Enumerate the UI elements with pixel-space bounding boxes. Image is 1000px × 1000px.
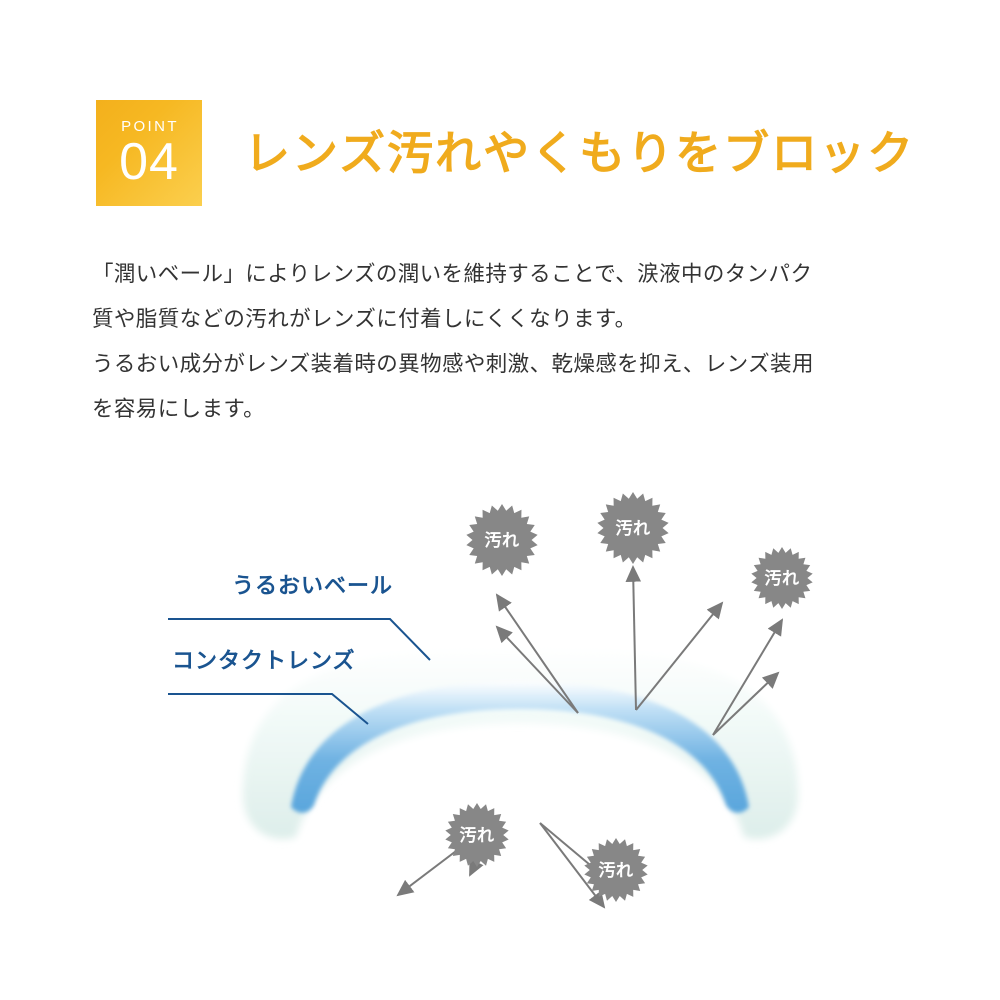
point-badge: POINT 04 (96, 100, 202, 206)
lens-diagram: うるおいベール コンタクトレンズ (0, 455, 1000, 935)
callout-label-contact-lens: コンタクトレンズ (172, 648, 356, 673)
infographic-page: POINT 04 レンズ汚れやくもりをブロック 「潤いベール」によりレンズの潤い… (0, 0, 1000, 1000)
dirt-burst-label: 汚れ (616, 518, 651, 538)
page-title: レンズ汚れやくもりをブロック (244, 130, 915, 176)
body-line-3: うるおい成分がレンズ装着時の異物感や刺激、乾燥感を抑え、レンズ装用 (92, 342, 912, 387)
dirt-burst: 汚れ (445, 803, 508, 867)
dirt-burst: 汚れ (466, 504, 537, 576)
body-line-1: 「潤いベール」によりレンズの潤いを維持することで、涙液中のタンパク (92, 252, 912, 297)
point-badge-number: 04 (119, 136, 179, 188)
lens-diagram-svg: うるおいベール コンタクトレンズ (0, 455, 1000, 935)
callout-label-moisture-veil: うるおいベール (232, 573, 393, 598)
dirt-burst-label: 汚れ (599, 860, 634, 880)
dirt-burst-label: 汚れ (460, 825, 495, 845)
lens-illustration (243, 645, 798, 839)
body-copy: 「潤いベール」によりレンズの潤いを維持することで、涙液中のタンパク 質や脂質など… (92, 252, 912, 432)
dirt-burst-label: 汚れ (485, 530, 520, 550)
dirt-burst-label: 汚れ (765, 568, 800, 588)
dirt-burst: 汚れ (597, 492, 668, 564)
header: POINT 04 レンズ汚れやくもりをブロック (96, 100, 915, 206)
point-badge-label: POINT (119, 119, 179, 134)
body-line-2: 質や脂質などの汚れがレンズに付着しにくくなります。 (92, 297, 912, 342)
body-line-4: を容易にします。 (92, 387, 912, 432)
dirt-burst: 汚れ (751, 547, 812, 609)
